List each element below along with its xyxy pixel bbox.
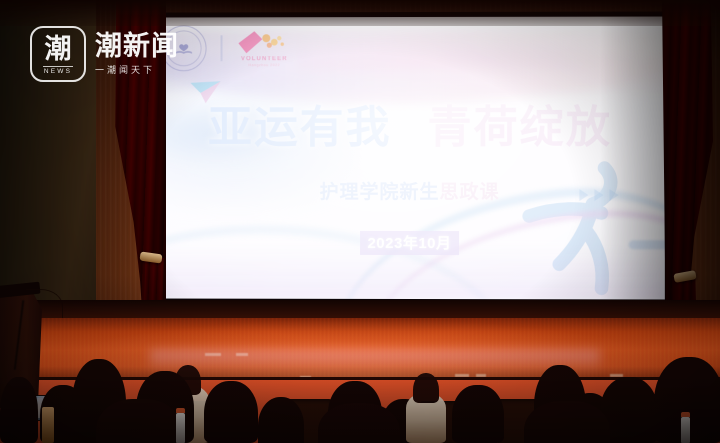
volunteer-sublabel: Hangzhou 2022 xyxy=(248,63,280,67)
slide-title-part2: 青荷绽放 xyxy=(428,91,613,155)
news-watermark: 潮 NEWS 潮新闻 一潮闻天下 xyxy=(30,26,179,82)
photo-lecture-hall: VOLUNTEER Hangzhou 2022 亚运有我 青荷绽放 护理学院新生… xyxy=(0,0,720,443)
slide-subtitle: 护理学院新生思政课 xyxy=(156,177,665,204)
bottle-cap xyxy=(681,412,690,417)
projection-screen-frame: VOLUNTEER Hangzhou 2022 亚运有我 青荷绽放 护理学院新生… xyxy=(151,11,671,305)
head xyxy=(204,381,258,443)
slide-date-wrap: 2023年10月 xyxy=(156,231,665,256)
watermark-badge: 潮 NEWS xyxy=(30,26,86,82)
slide-date: 2023年10月 xyxy=(361,231,459,255)
audience xyxy=(0,333,720,443)
slide-title: 亚运有我 青荷绽放 xyxy=(156,91,665,155)
watermark-badge-label: NEWS xyxy=(44,68,72,75)
watermark-tagline: 一潮闻天下 xyxy=(95,63,179,76)
watermark-words: 潮新闻 一潮闻天下 xyxy=(95,32,179,75)
head xyxy=(258,397,304,443)
volunteer-label: VOLUNTEER xyxy=(241,56,288,62)
water-bottle xyxy=(176,413,185,443)
water-bottle xyxy=(681,417,690,443)
shoulders xyxy=(524,401,610,443)
slide-subtitle-part2: 思政课 xyxy=(440,182,500,203)
logo-divider xyxy=(221,35,223,61)
thermos-flask xyxy=(42,407,54,443)
head xyxy=(452,385,504,443)
shoulders xyxy=(96,399,182,443)
slide-title-part1: 亚运有我 xyxy=(208,91,391,155)
shoulders xyxy=(318,403,400,443)
watermark-badge-char: 潮 xyxy=(45,36,72,63)
ceiling-shadow xyxy=(0,0,720,26)
person-front-right xyxy=(406,393,446,443)
volunteer-logo: VOLUNTEER Hangzhou 2022 xyxy=(236,29,292,67)
bottle-cap xyxy=(176,408,185,413)
slide-logo-row: VOLUNTEER Hangzhou 2022 xyxy=(161,25,292,71)
head xyxy=(413,373,439,403)
head xyxy=(0,377,38,443)
volunteer-mark-icon xyxy=(236,29,292,55)
watermark-badge-rule xyxy=(43,66,73,67)
slide-wave-pink xyxy=(298,34,604,71)
watermark-brand: 潮新闻 xyxy=(95,32,179,60)
projection-screen: VOLUNTEER Hangzhou 2022 亚运有我 青荷绽放 护理学院新生… xyxy=(156,17,665,300)
slide-subtitle-part1: 护理学院新生 xyxy=(320,182,440,203)
